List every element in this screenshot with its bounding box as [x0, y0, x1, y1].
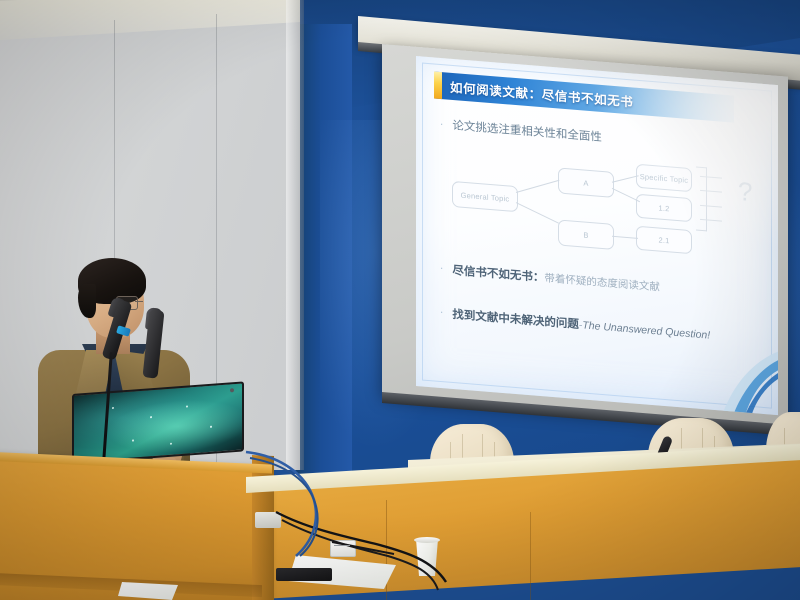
- bullet-marker-icon: ·: [440, 264, 443, 274]
- diagram-dash: [700, 190, 722, 193]
- slide-corner-swoosh: [692, 340, 778, 415]
- bullet-marker-icon: ·: [440, 308, 443, 318]
- diagram-connector: [612, 175, 639, 182]
- device-label-strip: [334, 545, 350, 546]
- diagram-dash: [700, 176, 722, 179]
- glasses-icon: [135, 301, 143, 302]
- diagram-node-1-2: 1.2: [636, 194, 692, 223]
- diagram-node-2-1: 2.1: [636, 226, 692, 255]
- diagram-question-mark: ?: [738, 176, 752, 208]
- diagram-dash: [700, 205, 722, 208]
- diagram-connector: [612, 188, 640, 202]
- diagram-connector: [516, 180, 560, 193]
- presenter-hair: [78, 284, 96, 318]
- diagram-dash: [700, 219, 722, 222]
- laptop-wallpaper-nebula: [74, 384, 242, 462]
- laptop-screen: [72, 381, 244, 464]
- bullet-marker-icon: ·: [440, 120, 443, 130]
- title-accent-bar: [434, 71, 442, 99]
- wall-corner-edge: [286, 0, 304, 470]
- desk-panel-seam: [530, 512, 531, 600]
- diagram-connector: [516, 202, 559, 224]
- presentation-room-photo: 如何阅读文献：尽信书不如无书 · 论文挑选注重相关性和全面性 General T…: [0, 0, 800, 600]
- diagram-node-specific: Specific Topic: [636, 164, 692, 193]
- paper-cup-rim: [414, 537, 440, 543]
- projected-slide: 如何阅读文献：尽信书不如无书 · 论文挑选注重相关性和全面性 General T…: [416, 56, 778, 415]
- diagram-connector: [612, 236, 638, 239]
- diagram-node-b: B: [558, 219, 614, 250]
- diagram-bracket-dashes: [700, 169, 730, 229]
- wall-cables: [236, 448, 356, 558]
- laptop[interactable]: [72, 382, 240, 466]
- diagram-node-a: A: [558, 167, 614, 198]
- diagram-node-general: General Topic: [452, 181, 518, 212]
